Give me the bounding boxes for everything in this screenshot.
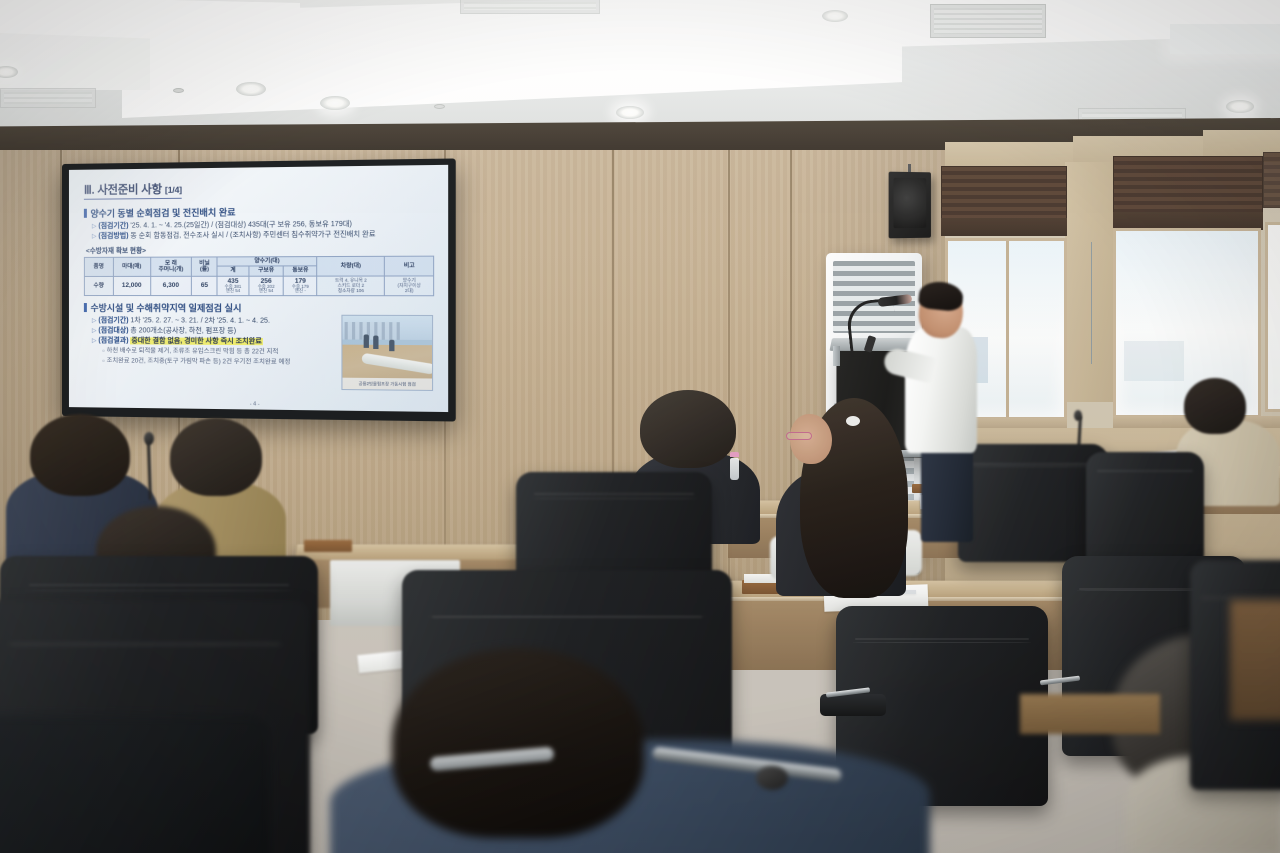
slide-title: Ⅲ. 사전준비 사항 [1/4] [84,181,182,200]
triangle-bullet-icon: ▷ [92,338,97,344]
slide-bullet: ▷ (점검방법) 동 순회 합동점검, 전수조사 실시 / (조치사항) 주민센… [92,230,434,242]
td-vinyl: 65 [192,276,218,296]
bullet-key: (점검대상) [98,327,128,334]
attendee-blue-shirt-head [392,648,644,838]
materials-table: 품명 마대(매) 모 래 주머니(개) 비닐 (롤) 양수기(대) 차량(대) … [84,256,434,297]
bullet-text: '25. 4. 1. ~ '4. 25.(25일간) / (점검대상) 435대… [130,221,352,230]
sub-bullet-text: 조치완료 20건, 조치중(토구 가림막 파손 등) 2건 우기전 조치완료 예… [107,357,291,366]
bullet-text: 1차 '25. 2. 27. ~ 3. 21. / 2차 '25. 4. 1. … [130,317,270,325]
td-madae: 12,000 [113,276,150,296]
th-vinyl: 비닐 (롤) [192,257,218,276]
th-item: 품명 [84,257,113,276]
smoke-detector-1 [173,88,184,93]
blind-far-right [1263,152,1280,208]
section-bar-icon [84,209,87,218]
blind-left [941,166,1067,220]
circle-bullet-icon: ○ [102,348,105,354]
triangle-bullet-icon: ▷ [92,224,97,230]
triangle-bullet-icon: ▷ [92,234,97,240]
ceiling-vent-center [460,0,600,14]
slide-photo: 공릉2빗물펌프장 가동시험 점검 [341,315,433,391]
th-vehicle: 차량(대) [317,256,385,275]
section2-heading-text: 수방시설 및 수해취약지역 일제점검 실시 [90,301,241,314]
downlight-5 [1226,100,1254,113]
th-pump-group: 양수기(대) [217,257,317,267]
bullet-text: 총 200개소(공사장, 하천, 펌프장 등) [130,327,236,335]
slide-section1-heading: 양수기 동별 순회점검 및 전진배치 완료 [84,204,434,220]
led-panel-right [1170,24,1280,54]
th-pump-total: 계 [217,266,248,275]
presenter-legs [921,442,973,542]
podium-corner-left [833,346,840,366]
th-madae: 마대(매) [113,257,150,276]
blind-valance-left [941,218,1067,236]
th-pump-dong: 동보유 [284,266,317,276]
sub-bullet-text: 하천 배수로 퇴적물 제거, 조류조 유입스크린 막힘 등 총 22건 지적 [107,347,279,355]
water-bottle-cap [730,452,739,457]
pump-total-sub: 수중 381 엔진 54 [218,285,248,295]
ceiling-vent-right [930,4,1046,38]
bullet-key: (점검결과) [98,337,128,344]
pump-dong-sub: 수중 179 엔진 - [284,285,316,295]
section1-heading-text: 양수기 동별 순회점검 및 전진배치 완료 [90,205,235,219]
blind-right [1113,156,1263,214]
bullet-key: (점검기간) [98,317,128,324]
slide-photo-caption: 공릉2빗물펌프장 가동시험 점검 [342,378,432,390]
slide-section2-heading: 수방시설 및 수해취약지역 일제점검 실시 [84,301,434,315]
bullet-highlight-text: 중대한 결함 없음, 경미한 사항 즉시 조치완료 [130,337,262,345]
desk-edge-bottom-right [1020,694,1160,734]
hair-clip [846,416,860,426]
downlight-1 [236,82,266,96]
slide-title-text: . 사전준비 사항 [91,184,161,197]
bullet-key: (점검방법) [98,233,128,240]
td-sandbag: 6,300 [150,276,191,296]
chair-bottom-left-corner [0,716,270,853]
ceiling-vent-left [0,88,96,108]
td-row-label: 수량 [84,276,113,296]
pump-gu-sub: 수중 202 엔진 54 [249,285,283,295]
display-screen: Ⅲ. 사전준비 사항 [1/4] 양수기 동별 순회점검 및 전진배치 완료 ▷… [69,165,448,412]
wall-speaker-icon [889,172,931,239]
td-remark: 양수기 (자치구이상 2대) [385,275,434,295]
bullet-key: (점검기간) [98,223,128,230]
triangle-bullet-icon: ▷ [92,328,97,334]
table-header-row: 품명 마대(매) 모 래 주머니(개) 비닐 (롤) 양수기(대) 차량(대) … [84,256,433,267]
th-pump-gu: 구보유 [249,266,284,276]
triangle-bullet-icon: ▷ [92,318,97,324]
chair-right-back-2 [1086,452,1204,564]
smoke-detector-2 [434,104,445,109]
eyeglasses-icon [786,432,812,440]
downlight-2 [320,96,350,110]
td-pump-total: 435 수중 381 엔진 54 [217,276,248,296]
circle-bullet-icon: ○ [102,358,105,364]
table-caption: <수방자재 확보 현황> [86,243,434,255]
slide-page-indicator: [1/4] [165,185,182,195]
slide-content: Ⅲ. 사전준비 사항 [1/4] 양수기 동별 순회점검 및 전진배치 완료 ▷… [69,165,448,412]
downlight-4 [822,10,848,22]
attendee-short-hair-head [640,390,736,468]
blind-cord [1091,242,1092,364]
attendee-tan-jacket-head [170,418,262,496]
th-sandbag: 모 래 주머니(개) [150,257,191,276]
td-pump-gu: 256 수중 202 엔진 54 [249,276,284,296]
slide-page-number: - 4 - [69,399,448,410]
bullet-text: 동 순회 합동점검, 전수조사 실시 / (조치사항) 주민센터 침수취약가구 … [130,231,375,240]
slide-title-numeral: Ⅲ [84,185,92,197]
presentation-display[interactable]: Ⅲ. 사전준비 사항 [1/4] 양수기 동별 순회점검 및 전진배치 완료 ▷… [62,158,456,421]
section-bar-icon [84,303,87,312]
attendee-beige-jacket-head [1184,378,1246,434]
chair-arm-left [820,694,886,716]
table-row: 수량 12,000 6,300 65 435 수중 381 엔진 54 256 … [84,275,433,295]
downlight-3 [616,106,644,119]
window-pier [1065,162,1113,402]
nameplate-holder [304,540,352,552]
attendee-navy-suit-head [30,414,130,496]
th-remark: 비고 [385,256,434,275]
td-vehicle: 트럭 4, 유니목 2 스키드 로더 2 청소차량 106 [317,275,385,295]
conference-mic-head [1074,410,1082,421]
foreground-mic-head [756,766,788,790]
conference-room-scene: Ⅲ. 사전준비 사항 [1/4] 양수기 동별 순회점검 및 전진배치 완료 ▷… [0,0,1280,853]
conference-mic-head [144,432,154,445]
wall-strip-bottom-right [1230,600,1280,720]
td-pump-dong: 179 수중 179 엔진 - [284,276,317,296]
water-bottle [730,458,739,480]
window-far-right [1265,222,1280,412]
presenter-torso [905,327,977,453]
